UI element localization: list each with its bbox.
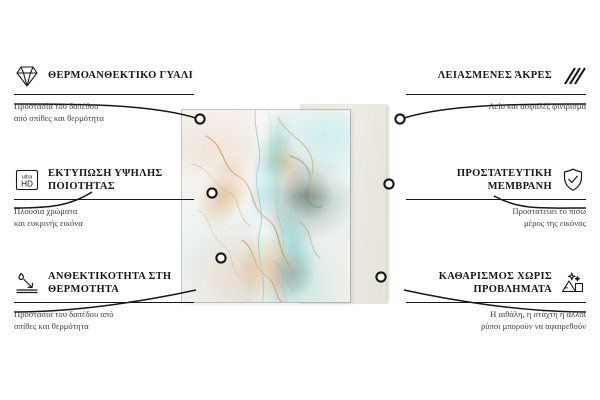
feature-title: ΕΚΤΥΠΩΣΗ ΥΨΗΛΗΣ ΠΟΙΟΤΗΤΑΣ: [48, 167, 194, 194]
diamond-icon: [14, 63, 40, 89]
easy-cleaning-icon: [560, 270, 586, 296]
feature-desc-line: από σπίθες και θερμότητα: [14, 112, 194, 124]
feature-title: ΛΕΙΑΣΜΕΝΕΣ ΆΚΡΕΣ: [438, 69, 552, 82]
feature-polished-edges: ΛΕΙΑΣΜΕΝΕΣ ΆΚΡΕΣ Λείο και ασφαλές φινίρι…: [406, 63, 586, 112]
feature-desc-line: σπίθες και θερμότητα: [14, 320, 194, 332]
feature-description: Πλούσια χρώματα και ευκρινής εικόνα: [14, 205, 194, 229]
feature-title: ΘΕΡΜΟΑΝΘΕΚΤΙΚΟ ΓΥΑΛΙ: [48, 69, 193, 82]
feature-protective-film: ΠΡΟΣΤΑΤΕΥΤΙΚΗ ΜΕΜΒΡΑΝΗ Προστατεύει το πί…: [406, 167, 586, 229]
feature-header: ΠΡΟΣΤΑΤΕΥΤΙΚΗ ΜΕΜΒΡΑΝΗ: [406, 167, 586, 194]
feature-divider: [406, 94, 586, 95]
feature-title: ΚΑΘΑΡΙΣΜΟΣ ΧΩΡΙΣ ΠΡΟΒΛΗΜΑΤΑ: [406, 270, 552, 297]
feature-description: Λείο και ασφαλές φινίρισμα: [406, 100, 586, 112]
feature-easy-cleaning: ΚΑΘΑΡΙΣΜΟΣ ΧΩΡΙΣ ΠΡΟΒΛΗΜΑΤΑ Η αιθάλη, η …: [406, 270, 586, 332]
glass-reflection: [182, 110, 350, 302]
feature-desc-line: Προστασία του δαπέδου από: [14, 308, 194, 320]
feature-desc-line: Λείο και ασφαλές φινίρισμα: [406, 100, 586, 112]
feature-high-quality-print: ultra HD ΕΚΤΥΠΩΣΗ ΥΨΗΛΗΣ ΠΟΙΟΤΗΤΑΣ Πλούσ…: [14, 167, 194, 229]
feature-title: ΠΡΟΣΤΑΤΕΥΤΙΚΗ ΜΕΜΒΡΑΝΗ: [406, 167, 552, 194]
polished-edges-icon: [560, 63, 586, 89]
shield-check-icon: [560, 167, 586, 193]
feature-header: ultra HD ΕΚΤΥΠΩΣΗ ΥΨΗΛΗΣ ΠΟΙΟΤΗΤΑΣ: [14, 167, 194, 194]
feature-divider: [14, 94, 194, 95]
feature-title: ΑΝΘΕΚΤΙΚΟΤΗΤΑ ΣΤΗ ΘΕΡΜΟΤΗΤΑ: [48, 270, 194, 297]
feature-description: Η αιθάλη, η στάχτη ή άλλοι ρύποι μπορούν…: [406, 308, 586, 332]
feature-desc-line: Πλούσια χρώματα: [14, 205, 194, 217]
feature-desc-line: Προστασία του δαπέδου: [14, 100, 194, 112]
feature-heat-durability: ΑΝΘΕΚΤΙΚΟΤΗΤΑ ΣΤΗ ΘΕΡΜΟΤΗΤΑ Προστασία το…: [14, 270, 194, 332]
feature-desc-line: Η αιθάλη, η στάχτη ή άλλοι: [406, 308, 586, 320]
feature-description: Προστασία του δαπέδου από σπίθες και θερ…: [14, 308, 194, 332]
product-image-group: [178, 104, 403, 306]
feature-desc-line: ρύποι μπορούν να αφαιρεθούν: [406, 320, 586, 332]
feature-description: Προστασία του δαπέδου από σπίθες και θερ…: [14, 100, 194, 124]
ultra-hd-bottom-label: HD: [21, 180, 33, 189]
feature-desc-line: και ευκρινής εικόνα: [14, 217, 194, 229]
feature-desc-line: μέρος της εικόνας: [406, 217, 586, 229]
heat-resistance-icon: [14, 270, 40, 296]
feature-header: ΘΕΡΜΟΑΝΘΕΚΤΙΚΟ ΓΥΑΛΙ: [14, 63, 194, 89]
ultra-hd-icon: ultra HD: [14, 167, 40, 193]
feature-divider: [406, 199, 586, 200]
product-backboard-edge: [386, 106, 390, 302]
feature-description: Προστατεύει το πίσω μέρος της εικόνας: [406, 205, 586, 229]
feature-divider: [14, 199, 194, 200]
product-glass-panel: [182, 110, 350, 302]
feature-desc-line: Προστατεύει το πίσω: [406, 205, 586, 217]
feature-divider: [406, 302, 586, 303]
feature-header: ΑΝΘΕΚΤΙΚΟΤΗΤΑ ΣΤΗ ΘΕΡΜΟΤΗΤΑ: [14, 270, 194, 297]
feature-divider: [14, 302, 194, 303]
infographic-stage: ΘΕΡΜΟΑΝΘΕΚΤΙΚΟ ΓΥΑΛΙ Προστασία του δαπέδ…: [0, 0, 600, 400]
product-art: [182, 110, 350, 302]
feature-heat-resistant-glass: ΘΕΡΜΟΑΝΘΕΚΤΙΚΟ ΓΥΑΛΙ Προστασία του δαπέδ…: [14, 63, 194, 124]
feature-header: ΛΕΙΑΣΜΕΝΕΣ ΆΚΡΕΣ: [406, 63, 586, 89]
feature-header: ΚΑΘΑΡΙΣΜΟΣ ΧΩΡΙΣ ΠΡΟΒΛΗΜΑΤΑ: [406, 270, 586, 297]
